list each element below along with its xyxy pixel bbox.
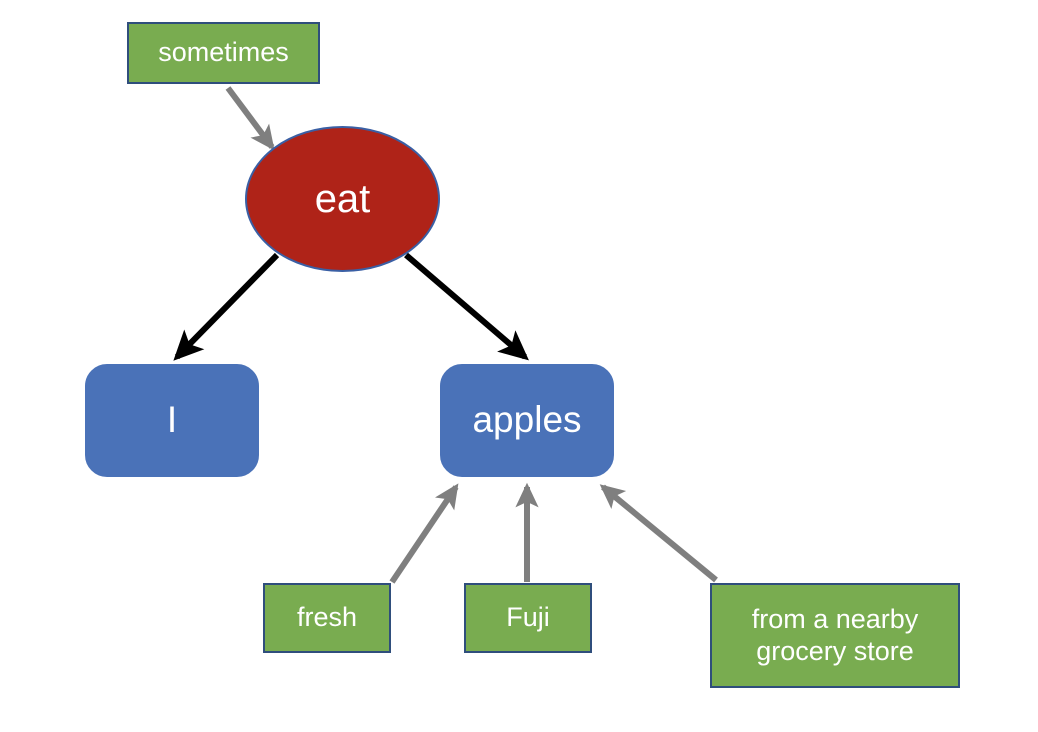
edge-fresh-apples bbox=[392, 487, 456, 582]
node-i[interactable]: I bbox=[85, 364, 259, 477]
node-apples[interactable]: apples bbox=[440, 364, 614, 477]
edge-sometimes-eat bbox=[228, 88, 272, 147]
node-fresh[interactable]: fresh bbox=[263, 583, 391, 653]
edge-eat-apples bbox=[406, 255, 525, 357]
node-i-label: I bbox=[161, 399, 183, 442]
node-fuji-label: Fuji bbox=[500, 602, 556, 633]
node-store-label: from a nearby grocery store bbox=[746, 604, 925, 667]
node-apples-label: apples bbox=[466, 399, 587, 442]
node-fuji[interactable]: Fuji bbox=[464, 583, 592, 653]
edge-store-apples bbox=[603, 487, 716, 580]
node-eat-label: eat bbox=[309, 176, 377, 222]
node-store[interactable]: from a nearby grocery store bbox=[710, 583, 960, 688]
node-fresh-label: fresh bbox=[291, 602, 363, 633]
diagram-canvas: sometimes eat I apples fresh Fuji from a… bbox=[0, 0, 1038, 732]
node-sometimes[interactable]: sometimes bbox=[127, 22, 320, 84]
edge-eat-i bbox=[177, 255, 277, 357]
node-sometimes-label: sometimes bbox=[152, 37, 295, 68]
node-eat[interactable]: eat bbox=[245, 126, 440, 272]
